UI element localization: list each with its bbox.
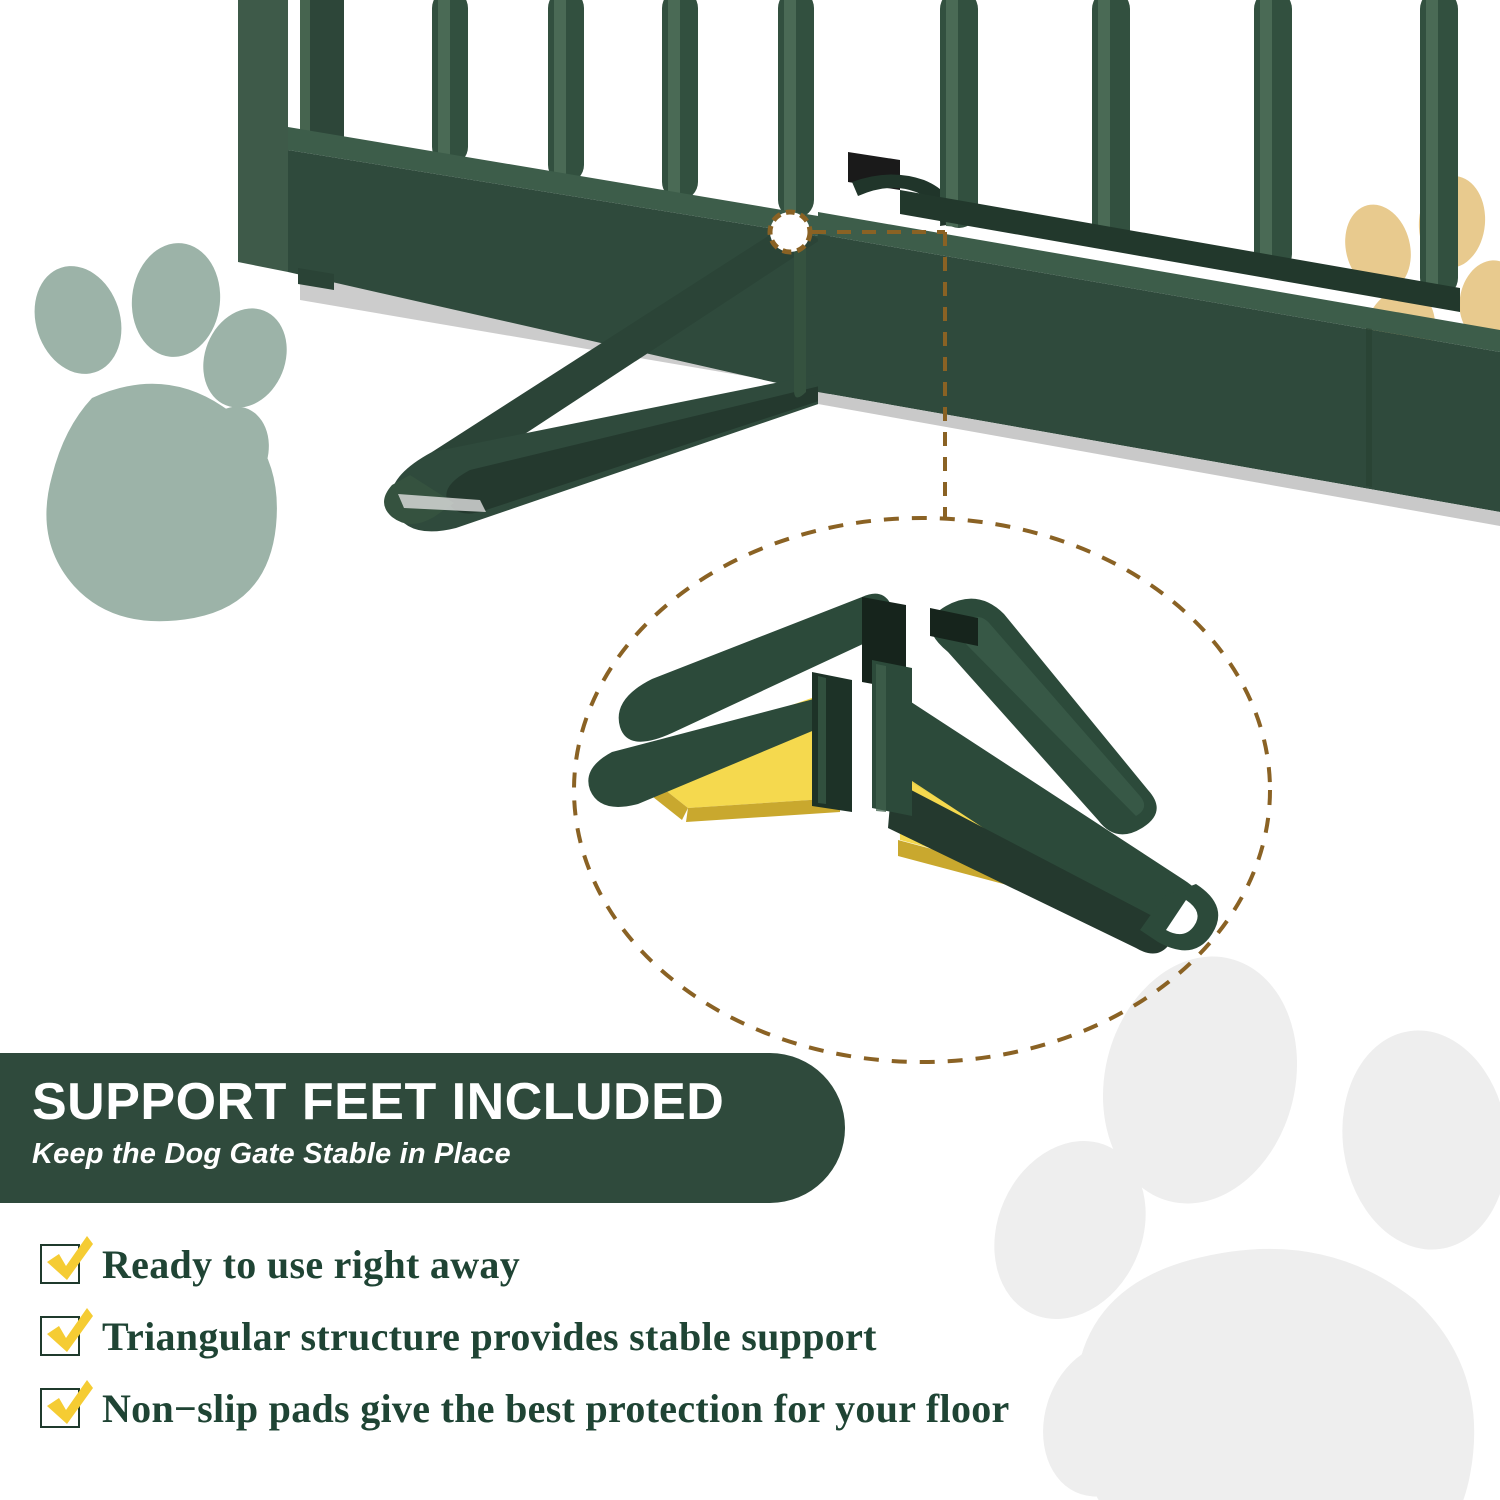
feature-list: Ready to use right away Triangular struc… bbox=[40, 1228, 1220, 1444]
banner-subtitle: Keep the Dog Gate Stable in Place bbox=[32, 1138, 845, 1171]
gate-panel-right bbox=[794, 0, 1500, 526]
feature-label: Ready to use right away bbox=[102, 1241, 520, 1288]
check-icon bbox=[40, 1388, 80, 1428]
feature-label: Triangular structure provides stable sup… bbox=[102, 1313, 877, 1360]
feature-row: Ready to use right away bbox=[40, 1228, 1220, 1300]
feature-label: Non−slip pads give the best protection f… bbox=[102, 1385, 1010, 1432]
support-foot-back bbox=[588, 594, 906, 822]
feature-row: Triangular structure provides stable sup… bbox=[40, 1300, 1220, 1372]
check-icon bbox=[40, 1316, 80, 1356]
support-feet-detail bbox=[588, 594, 1218, 954]
check-icon bbox=[40, 1244, 80, 1284]
support-foot-front bbox=[872, 599, 1218, 954]
callout-origin-marker bbox=[770, 212, 810, 252]
feature-row: Non−slip pads give the best protection f… bbox=[40, 1372, 1220, 1444]
feature-banner: SUPPORT FEET INCLUDED Keep the Dog Gate … bbox=[0, 1053, 845, 1203]
product-infographic: SUPPORT FEET INCLUDED Keep the Dog Gate … bbox=[0, 0, 1500, 1500]
banner-title: SUPPORT FEET INCLUDED bbox=[32, 1075, 845, 1130]
